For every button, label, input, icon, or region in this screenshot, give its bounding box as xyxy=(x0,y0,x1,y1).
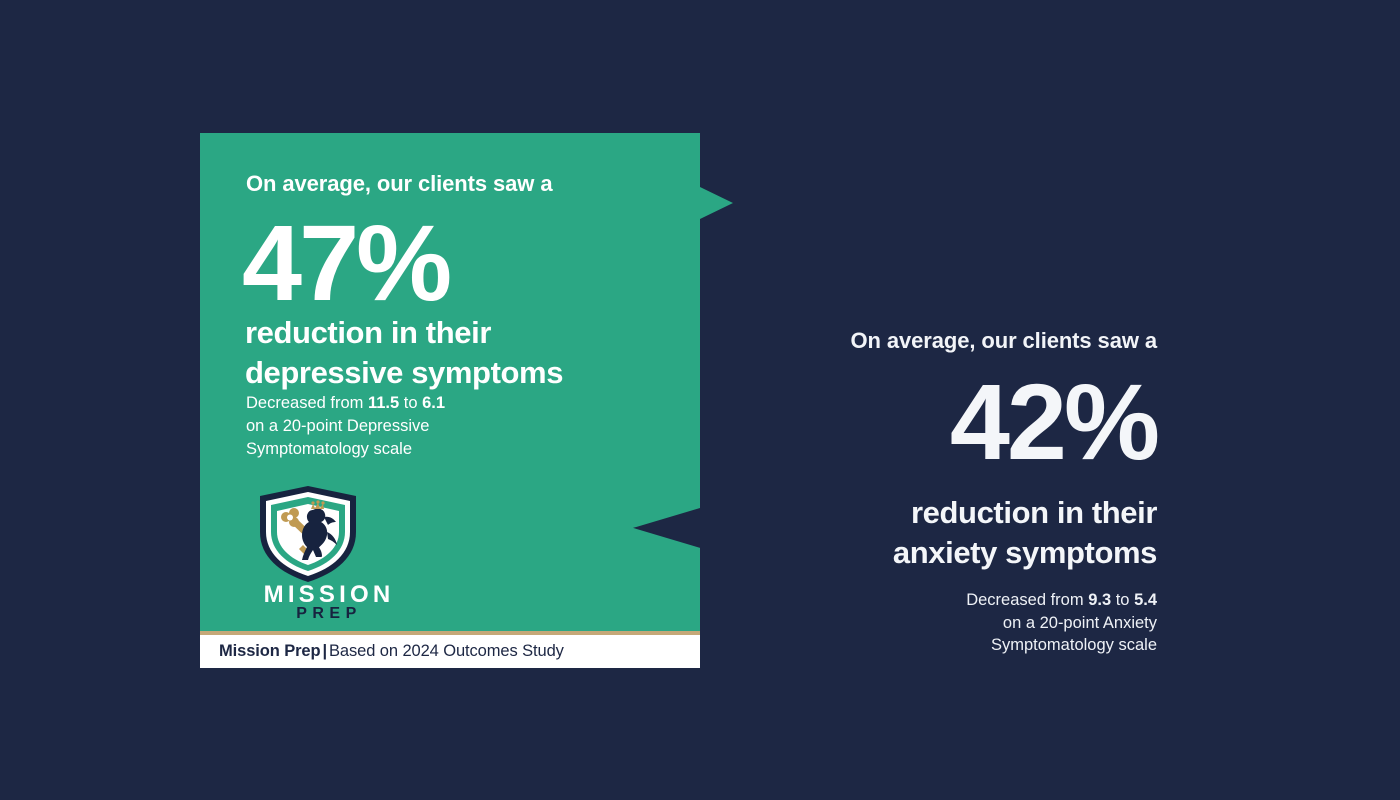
depression-stat-card: On average, our clients saw a 47% reduct… xyxy=(200,133,700,668)
mission-prep-shield-crest-icon xyxy=(256,485,360,583)
left-headline-line-1: reduction in their xyxy=(245,315,491,350)
crown-icon xyxy=(311,500,325,509)
left-subcap-mid: to xyxy=(399,394,422,412)
right-subcap-line-2: on a 20-point Anxiety xyxy=(1003,614,1157,632)
right-headline-line-1: reduction in their xyxy=(911,495,1157,530)
logo-wordmark-main: MISSION xyxy=(244,583,414,607)
card-speech-tail-triangle-icon xyxy=(700,187,733,219)
right-subcap-mid: to xyxy=(1111,591,1134,609)
footer-separator: | xyxy=(321,642,330,660)
left-headline: reduction in their depressive symptoms xyxy=(245,313,563,392)
anxiety-stat-panel: On average, our clients saw a 42% reduct… xyxy=(775,330,1157,657)
left-subcap-to-value: 6.1 xyxy=(422,394,445,412)
right-subcaption: Decreased from 9.3 to 5.4 on a 20-point … xyxy=(775,589,1157,657)
footer-source: Based on 2024 Outcomes Study xyxy=(329,642,564,660)
left-subcap-line-2: on a 20-point Depressive xyxy=(246,417,429,435)
right-subcap-to-value: 5.4 xyxy=(1134,591,1157,609)
card-content: On average, our clients saw a 47% reduct… xyxy=(200,133,700,631)
left-subcap-prefix: Decreased from xyxy=(246,394,368,412)
right-subcap-line-3: Symptomatology scale xyxy=(991,636,1157,654)
footer-brand: Mission Prep xyxy=(219,642,321,660)
left-subcap-line-3: Symptomatology scale xyxy=(246,440,412,458)
footer-attribution: Mission Prep|Based on 2024 Outcomes Stud… xyxy=(200,642,564,661)
card-footer-bar: Mission Prep|Based on 2024 Outcomes Stud… xyxy=(200,635,700,668)
right-subcap-from-value: 9.3 xyxy=(1088,591,1111,609)
right-lead-line: On average, our clients saw a xyxy=(775,330,1157,352)
right-subcap-prefix: Decreased from xyxy=(966,591,1088,609)
right-big-percentage: 42% xyxy=(775,358,1157,485)
right-headline-line-2: anxiety symptoms xyxy=(893,535,1157,570)
left-headline-line-2: depressive symptoms xyxy=(245,355,563,390)
left-lead-line: On average, our clients saw a xyxy=(246,171,552,197)
left-subcaption: Decreased from 11.5 to 6.1 on a 20-point… xyxy=(246,392,445,460)
infographic-canvas: On average, our clients saw a 47% reduct… xyxy=(0,0,1400,800)
right-headline: reduction in their anxiety symptoms xyxy=(775,493,1157,572)
mission-prep-logo: MISSION PREP xyxy=(244,485,414,605)
left-big-percentage: 47% xyxy=(242,199,449,326)
logo-wordmark-sub: PREP xyxy=(244,606,414,622)
left-subcap-from-value: 11.5 xyxy=(368,394,399,412)
